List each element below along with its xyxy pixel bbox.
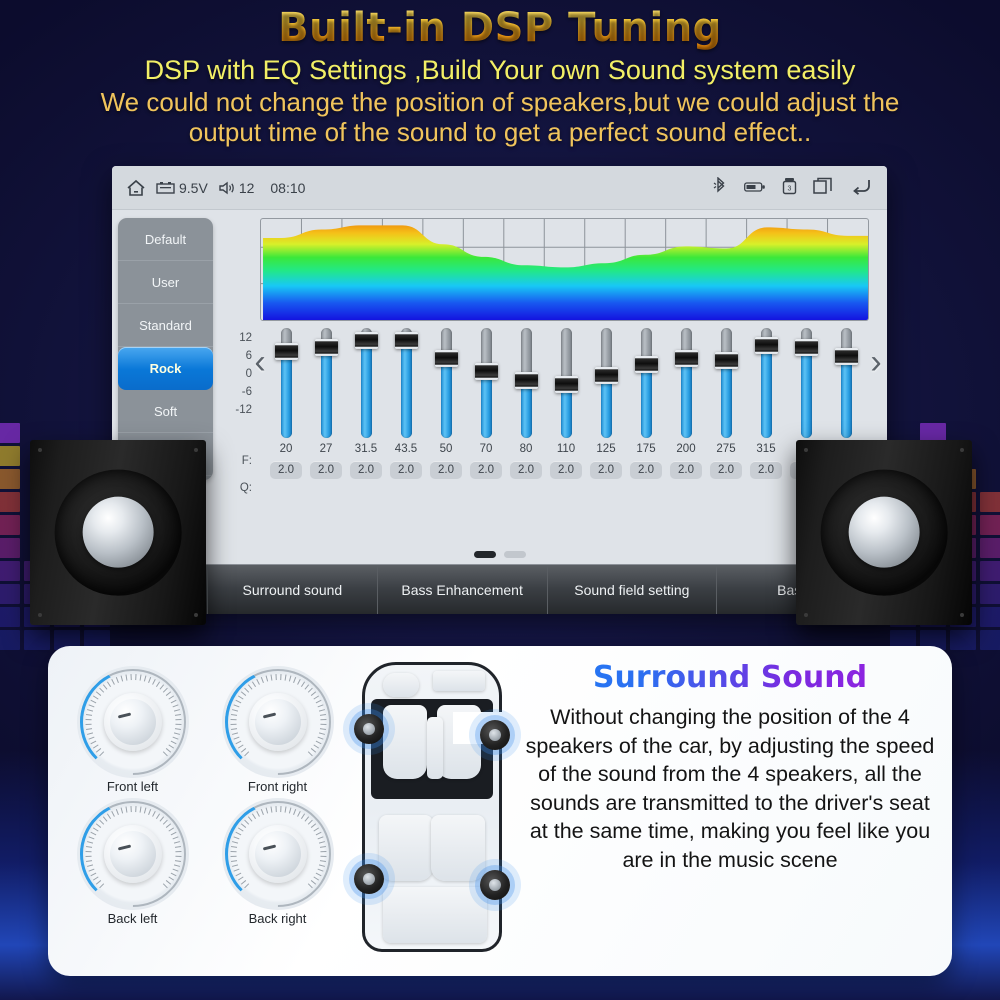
eq-band-slider-110[interactable]	[559, 328, 574, 438]
db-tick: 0	[218, 368, 252, 386]
car-speaker-front-left	[354, 714, 384, 744]
tab-bass-enhancement[interactable]: Bass Enhancement	[378, 565, 548, 614]
eq-band: 2002.0	[669, 328, 703, 508]
surround-illustration: Front leftFront rightBack leftBack right	[48, 646, 518, 976]
eq-band: 502.0	[429, 328, 463, 508]
surround-sound-card: Front leftFront rightBack leftBack right…	[48, 646, 952, 976]
slider-fill	[321, 348, 332, 438]
eq-band-slider-125[interactable]	[599, 328, 614, 438]
eq-band: 802.0	[509, 328, 543, 508]
slider-fill	[761, 346, 772, 438]
knob-back-right[interactable]: Back right	[205, 798, 350, 926]
prev-page-arrow[interactable]: ‹	[249, 332, 271, 392]
band-q-value[interactable]: 2.0	[670, 461, 702, 479]
preset-label: Rock	[150, 361, 182, 376]
band-frequency-label: 20	[280, 443, 293, 455]
volume-value: 12	[239, 180, 255, 196]
eq-band-slider-200[interactable]	[679, 328, 694, 438]
band-q-value[interactable]: 2.0	[630, 461, 662, 479]
eq-band: 702.0	[469, 328, 503, 508]
knob-label: Front left	[107, 779, 158, 794]
eq-band: 1102.0	[549, 328, 583, 508]
slider-knob[interactable]	[835, 348, 858, 365]
knob-dial[interactable]	[222, 798, 334, 910]
eq-band: 272.0	[309, 328, 343, 508]
band-q-value[interactable]: 2.0	[510, 461, 542, 479]
band-q-value[interactable]: 2.0	[270, 461, 302, 479]
band-frequency-label: 110	[557, 443, 575, 455]
preset-label: User	[152, 275, 179, 290]
slider-fill	[481, 372, 492, 438]
preset-item-standard[interactable]: Standard	[118, 304, 213, 347]
eq-band: 1752.0	[629, 328, 663, 508]
band-frequency-label: 200	[676, 443, 695, 455]
band-q-value[interactable]: 2.0	[550, 461, 582, 479]
knob-grip[interactable]	[249, 693, 307, 751]
slider-fill	[361, 341, 372, 438]
db-tick: 6	[218, 350, 252, 368]
bluetooth-icon[interactable]	[713, 177, 728, 198]
knob-back-left[interactable]: Back left	[60, 798, 205, 926]
band-q-value[interactable]: 2.0	[430, 461, 462, 479]
status-bar: 9.5V 12 08:10 3	[112, 166, 887, 210]
knob-grip[interactable]	[104, 693, 162, 751]
subtitle-line-2: We could not change the position of spea…	[0, 88, 1000, 118]
knob-front-right[interactable]: Front right	[205, 666, 350, 794]
band-frequency-label: 275	[716, 443, 735, 455]
slider-knob[interactable]	[595, 367, 618, 384]
tab-bar: Surround soundBass EnhancementSound fiel…	[112, 564, 887, 614]
preset-label: Default	[145, 232, 186, 247]
eq-band-slider-80[interactable]	[519, 328, 534, 438]
slider-fill	[441, 359, 452, 438]
eq-band-slider-20[interactable]	[279, 328, 294, 438]
preset-label: Standard	[139, 318, 192, 333]
knob-pointer	[262, 844, 275, 850]
slider-fill	[561, 385, 572, 438]
eq-band-slider-31.5[interactable]	[359, 328, 374, 438]
car-speaker-back-left	[354, 864, 384, 894]
slider-fill	[521, 381, 532, 438]
usb-3-icon: 3	[782, 177, 797, 198]
page-dot[interactable]	[474, 551, 496, 558]
recent-apps-icon[interactable]	[813, 177, 833, 198]
db-tick: -12	[218, 404, 252, 422]
slider-knob[interactable]	[675, 350, 698, 367]
eq-band-slider-43.5[interactable]	[399, 328, 414, 438]
slider-knob[interactable]	[715, 352, 738, 369]
eq-band: 1252.0	[589, 328, 623, 508]
knob-pointer	[262, 712, 275, 718]
clock: 08:10	[270, 180, 305, 196]
spectrum-chart	[261, 219, 868, 320]
eq-band-slider-500[interactable]	[839, 328, 854, 438]
eq-band: 3152.0	[749, 328, 783, 508]
eq-band: 31.52.0	[349, 328, 383, 508]
preset-label: Soft	[154, 404, 177, 419]
tab-label: Bass Enhancement	[401, 582, 522, 598]
slider-fill	[841, 357, 852, 438]
knob-dial[interactable]	[77, 798, 189, 910]
slider-fill	[641, 365, 652, 438]
svg-text:3: 3	[788, 186, 792, 193]
tab-surround-sound[interactable]: Surround sound	[208, 565, 378, 614]
slider-knob[interactable]	[475, 363, 498, 380]
knob-pointer	[117, 844, 130, 850]
preset-item-default[interactable]: Default	[118, 218, 213, 261]
volume-indicator: 12	[218, 180, 255, 196]
knob-dial[interactable]	[77, 666, 189, 778]
slider-knob[interactable]	[435, 350, 458, 367]
next-page-arrow[interactable]: ›	[865, 332, 887, 392]
knob-label: Back right	[249, 911, 307, 926]
battery-level-icon	[744, 180, 766, 196]
knob-grip[interactable]	[104, 825, 162, 883]
band-frequency-label: 50	[440, 443, 453, 455]
eq-band-slider-27[interactable]	[319, 328, 334, 438]
band-frequency-label: 80	[520, 443, 533, 455]
preset-item-rock[interactable]: Rock	[118, 347, 213, 390]
eq-band-slider-435[interactable]	[799, 328, 814, 438]
car-speaker-front-right	[480, 720, 510, 750]
band-frequency-label: 125	[596, 443, 615, 455]
knob-front-left[interactable]: Front left	[60, 666, 205, 794]
db-tick: -6	[218, 386, 252, 404]
subtitle-line-1: DSP with EQ Settings ,Build Your own Sou…	[0, 55, 1000, 86]
band-frequency-label: 31.5	[355, 443, 377, 455]
slider-knob[interactable]	[315, 339, 338, 356]
spectrum-display	[260, 218, 869, 321]
db-scale: 1260-6-12	[218, 332, 252, 422]
surround-text-block: Surround Sound Without changing the posi…	[518, 646, 952, 976]
car-interior-top-view	[348, 658, 516, 958]
slider-knob[interactable]	[795, 339, 818, 356]
eq-band: 202.0	[269, 328, 303, 508]
eq-band: 2752.0	[709, 328, 743, 508]
slider-fill	[401, 341, 412, 438]
eq-band: 43.52.0	[389, 328, 423, 508]
slider-fill	[601, 376, 612, 438]
surround-sound-description: Without changing the position of the 4 s…	[524, 703, 936, 875]
slider-fill	[801, 348, 812, 438]
tab-sound-field-setting[interactable]: Sound field setting	[548, 565, 718, 614]
speaker-right	[796, 440, 972, 625]
page-dot[interactable]	[504, 551, 526, 558]
knob-pointer	[117, 712, 130, 718]
slider-fill	[721, 361, 732, 438]
q-row-label: Q:	[218, 482, 252, 494]
slider-knob[interactable]	[355, 332, 378, 349]
battery-voltage: 9.5V	[156, 180, 208, 196]
tab-label: Surround sound	[243, 582, 343, 598]
slider-knob[interactable]	[275, 343, 298, 360]
page-title: Built-in DSP Tuning	[0, 0, 1000, 51]
page-indicator	[112, 551, 887, 558]
headline-block: Built-in DSP Tuning DSP with EQ Settings…	[0, 0, 1000, 160]
slider-fill	[681, 359, 692, 438]
speaker-delay-knobs: Front leftFront rightBack leftBack right	[60, 666, 350, 926]
preset-item-user[interactable]: User	[118, 261, 213, 304]
car-speaker-back-right	[480, 870, 510, 900]
subtitle-line-3: output time of the sound to get a perfec…	[0, 118, 1000, 148]
voltage-value: 9.5V	[179, 180, 208, 196]
slider-knob[interactable]	[395, 332, 418, 349]
band-q-value[interactable]: 2.0	[350, 461, 382, 479]
tab-label: Sound field setting	[574, 582, 689, 598]
surround-sound-title: Surround Sound	[524, 660, 936, 695]
band-frequency-label: 43.5	[395, 443, 417, 455]
band-q-value[interactable]: 2.0	[590, 461, 622, 479]
slider-fill	[281, 352, 292, 438]
knob-label: Front right	[248, 779, 307, 794]
preset-item-soft[interactable]: Soft	[118, 390, 213, 433]
band-q-value[interactable]: 2.0	[310, 461, 342, 479]
knob-label: Back left	[108, 911, 158, 926]
eq-band-slider-70[interactable]	[479, 328, 494, 438]
frequency-row-label: F:	[218, 455, 252, 467]
knob-grip[interactable]	[249, 825, 307, 883]
eq-band-sliders: 202.0272.031.52.043.52.0502.0702.0802.01…	[269, 328, 863, 508]
eq-band-slider-275[interactable]	[719, 328, 734, 438]
eq-band-slider-50[interactable]	[439, 328, 454, 438]
equalizer-panel: DefaultUserStandardRockSoftClassical 126…	[112, 210, 887, 564]
eq-band-slider-315[interactable]	[759, 328, 774, 438]
band-frequency-label: 70	[480, 443, 493, 455]
band-frequency-label: 315	[756, 443, 775, 455]
slider-knob[interactable]	[635, 356, 658, 373]
band-frequency-label: 27	[320, 443, 333, 455]
car-head-unit-screen: 9.5V 12 08:10 3 DefaultUser	[112, 166, 887, 614]
slider-knob[interactable]	[555, 376, 578, 393]
knob-dial[interactable]	[222, 666, 334, 778]
speaker-left	[30, 440, 206, 625]
band-q-value[interactable]: 2.0	[710, 461, 742, 479]
eq-band-slider-175[interactable]	[639, 328, 654, 438]
db-tick: 12	[218, 332, 252, 350]
band-q-value[interactable]: 2.0	[470, 461, 502, 479]
back-arrow-icon[interactable]	[849, 177, 873, 198]
slider-knob[interactable]	[515, 372, 538, 389]
band-q-value[interactable]: 2.0	[750, 461, 782, 479]
band-frequency-label: 175	[636, 443, 655, 455]
band-q-value[interactable]: 2.0	[390, 461, 422, 479]
slider-knob[interactable]	[755, 337, 778, 354]
home-icon[interactable]	[126, 179, 146, 197]
